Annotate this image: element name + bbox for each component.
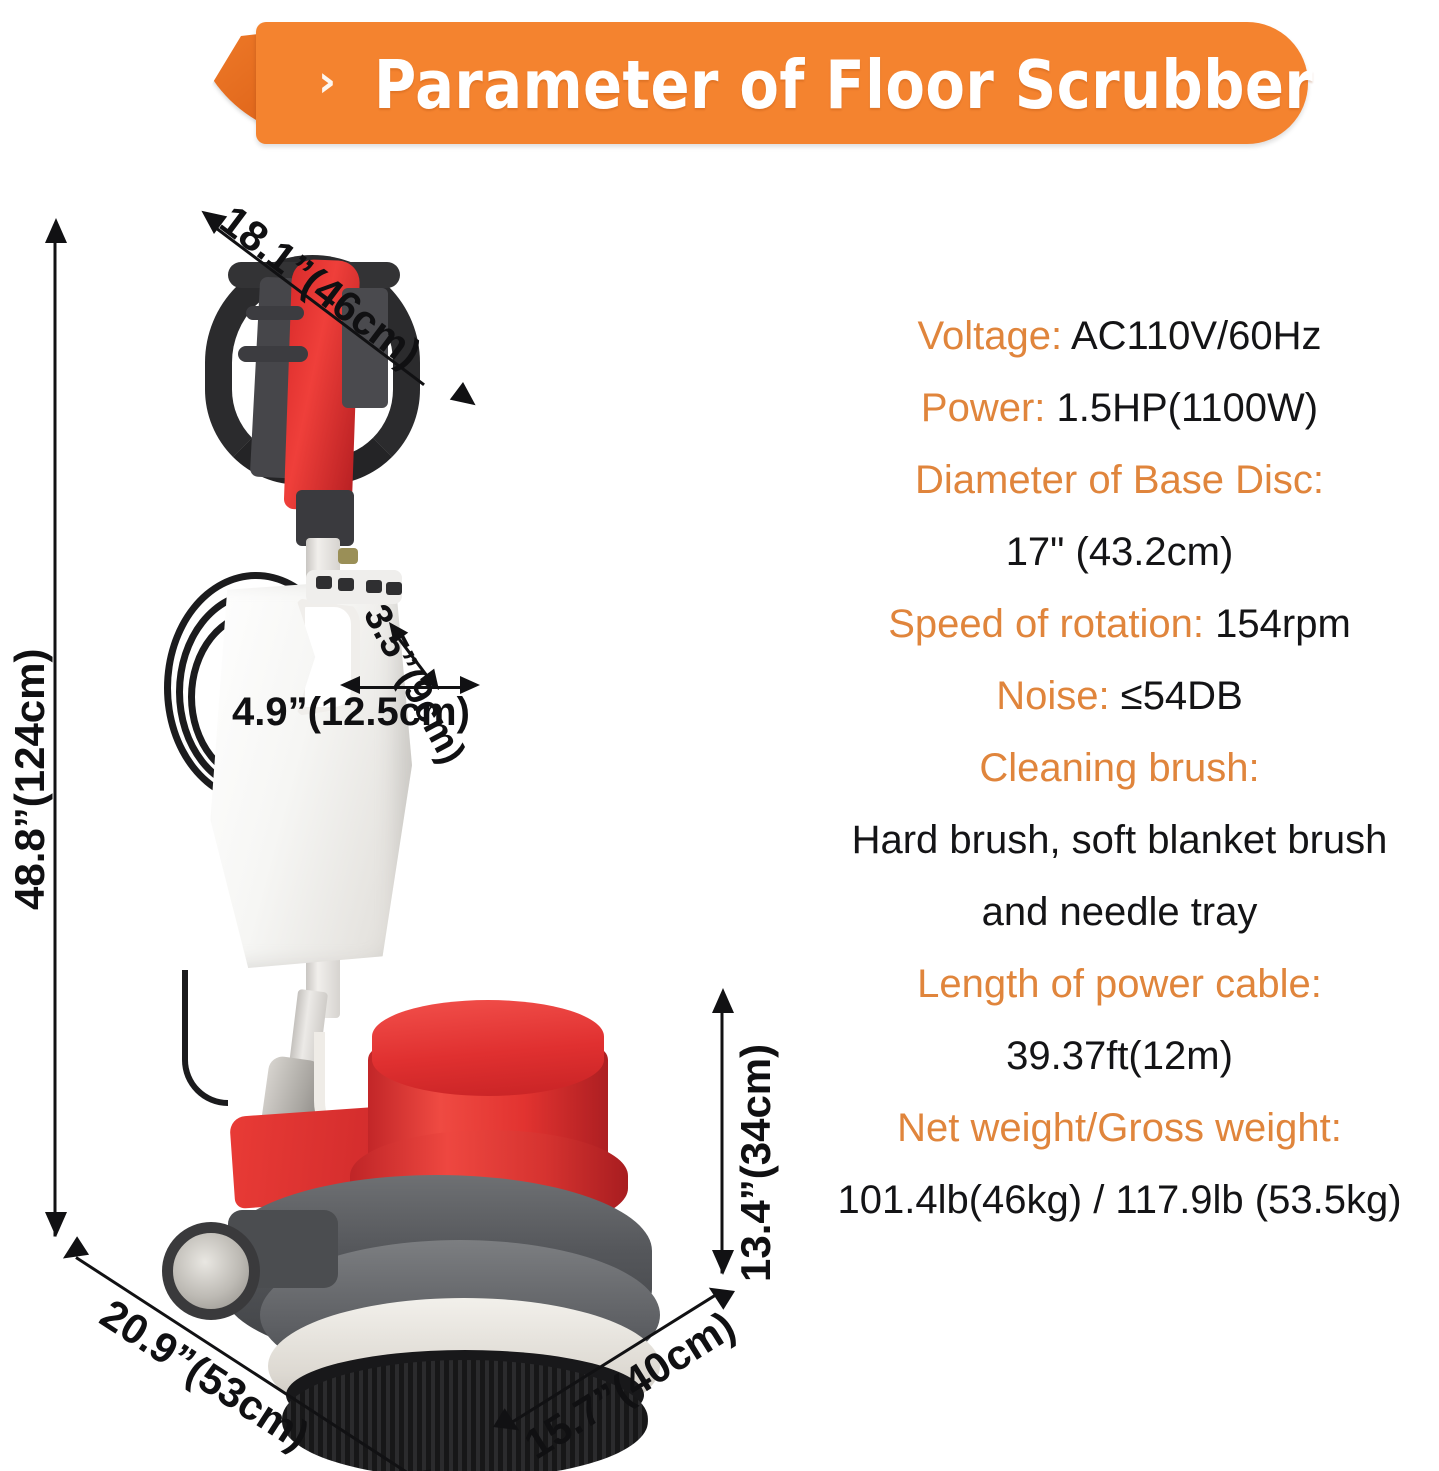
trigger-lever [238,346,308,362]
spec-label-cable-length: Length of power cable: [917,962,1322,1006]
spec-row-power: Power: 1.5HP(1100W) [800,372,1439,444]
spec-value-voltage: AC110V/60Hz [1071,314,1322,358]
spec-row-cleaning-brush: Cleaning brush: [800,732,1439,804]
spec-row-weight: Net weight/Gross weight: [800,1092,1439,1164]
spec-row-noise: Noise: ≤54DB [800,660,1439,732]
tank-fitting-clip [338,578,354,591]
power-cable-tail [182,970,228,1106]
dimension-label-tank-width: 4.9”(12.5cm) [232,690,470,735]
spec-label-weight: Net weight/Gross weight: [897,1106,1342,1150]
spec-row-weight-value: 101.4lb(46kg) / 117.9lb (53.5kg) [800,1164,1439,1236]
spec-value-disc-diameter: 17" (43.2cm) [1006,530,1234,574]
spec-label-rotation-speed: Speed of rotation: [888,602,1215,646]
tank-fitting-clip [386,582,402,595]
spec-value-cleaning-brush-line2: and needle tray [982,890,1258,934]
spec-value-cleaning-brush-line1: Hard brush, soft blanket brush [852,818,1388,862]
spec-row-rotation-speed: Speed of rotation: 154rpm [800,588,1439,660]
spec-value-rotation-speed: 154rpm [1215,602,1351,646]
spec-label-disc-diameter: Diameter of Base Disc: [915,458,1324,502]
spec-row-cable-value: 39.37ft(12m) [800,1020,1439,1092]
spec-row-disc-value: 17" (43.2cm) [800,516,1439,588]
spec-label-power: Power: [921,386,1057,430]
header-banner: › Parameter of Floor Scrubber [196,22,1308,144]
spec-value-noise: ≤54DB [1121,674,1243,718]
spec-row-cable-length: Length of power cable: [800,948,1439,1020]
product-spec-sheet: › Parameter of Floor Scrubber [0,0,1439,1471]
spec-row-brush-value-2: and needle tray [800,876,1439,948]
tank-fitting-clip [366,580,382,593]
spec-row-brush-value-1: Hard brush, soft blanket brush [800,804,1439,876]
dimension-label-height: 48.8”(124cm) [6,649,54,911]
spec-row-disc-diameter: Diameter of Base Disc: [800,444,1439,516]
spec-value-power: 1.5HP(1100W) [1057,386,1319,430]
transport-wheel [162,1222,260,1320]
dimension-arrowhead-bottom [45,1212,67,1237]
dimension-arrowhead-bottom [712,1250,734,1275]
spec-row-voltage: Voltage: AC110V/60Hz [800,300,1439,372]
dimension-arrowhead-top [45,218,67,243]
page-title: Parameter of Floor Scrubber [374,38,1165,132]
trigger-lever-upper [246,306,304,320]
spec-value-weight: 101.4lb(46kg) / 117.9lb (53.5kg) [837,1178,1401,1222]
tank-fitting-clip [316,576,332,589]
motor-housing-top [372,1000,604,1096]
dimension-line-base-height [721,1012,724,1274]
spec-label-voltage: Voltage: [918,314,1071,358]
product-image [110,200,750,1430]
dimension-line-tank-width [352,686,464,689]
spec-label-noise: Noise: [996,674,1121,718]
specification-list: Voltage: AC110V/60Hz Power: 1.5HP(1100W)… [800,300,1439,1236]
pole-bolt [338,548,358,564]
spec-label-cleaning-brush: Cleaning brush: [979,746,1259,790]
dimension-label-base-height: 13.4”(34cm) [732,1044,780,1282]
chevron-right-icon: › [318,60,344,104]
spec-value-cable-length: 39.37ft(12m) [1006,1034,1233,1078]
dimension-arrowhead-top [712,988,734,1013]
